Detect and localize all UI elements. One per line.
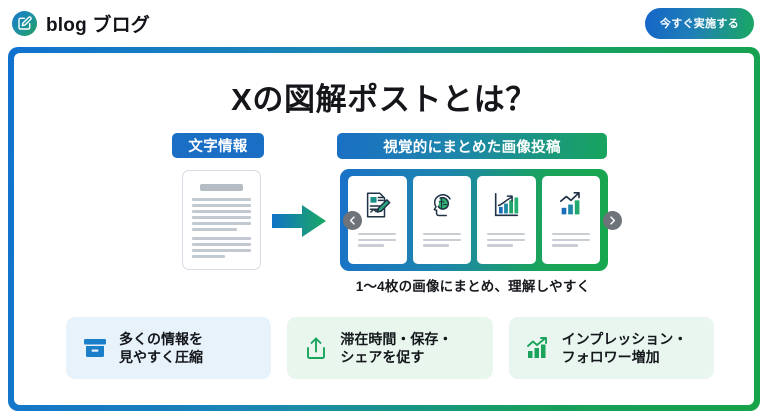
- implement-now-button[interactable]: 今すぐ実施する: [645, 8, 754, 39]
- benefit-line-1: 多くの情報を: [119, 331, 203, 347]
- top-bar: blog ブログ 今すぐ実施する: [0, 0, 768, 46]
- document-pencil-icon: [362, 185, 392, 225]
- benefit-line-1: 滞在時間・保存・: [340, 331, 452, 347]
- label-text-info: 文字情報: [172, 133, 264, 158]
- benefit-card-list: 多くの情報を 見やすく圧縮 滞在時間・保存・ シェアを促す: [66, 317, 714, 379]
- carousel-slide[interactable]: [477, 176, 536, 264]
- benefit-line-1: インプレッション・: [562, 331, 688, 347]
- brand[interactable]: blog ブログ: [12, 10, 150, 37]
- slide-line: [487, 239, 525, 241]
- carousel-caption: 1〜4枚の画像にまとめ、理解しやすく: [337, 275, 609, 295]
- slide-text-lines: [358, 233, 396, 250]
- benefit-label: インプレッション・ フォロワー増加: [562, 330, 688, 367]
- slide-line: [423, 233, 461, 235]
- doc-line: [192, 216, 251, 219]
- share-upload-icon: [301, 335, 331, 361]
- slide-line: [552, 239, 590, 241]
- doc-line: [192, 228, 237, 231]
- benefit-line-2: 見やすく圧縮: [119, 348, 203, 366]
- doc-line: [192, 198, 251, 201]
- brand-name: blog ブログ: [46, 10, 150, 37]
- right-arrow-icon: [272, 204, 326, 238]
- benefit-card-share[interactable]: 滞在時間・保存・ シェアを促す: [287, 317, 492, 379]
- slide-line: [423, 244, 449, 246]
- slide-line: [358, 239, 396, 241]
- archive-box-icon: [80, 335, 110, 361]
- doc-line: [192, 204, 251, 207]
- doc-line: [192, 210, 251, 213]
- slide-line: [358, 244, 384, 246]
- page-title: Xの図解ポストとは？: [14, 74, 754, 119]
- brain-head-icon: [427, 185, 457, 225]
- gradient-frame: Xの図解ポストとは？ 文字情報 視覚的にまとめた画像投稿: [8, 47, 760, 411]
- carousel-next-button[interactable]: [603, 211, 622, 230]
- frame-inner: Xの図解ポストとは？ 文字情報 視覚的にまとめた画像投稿: [14, 53, 754, 405]
- slide-text-lines: [552, 233, 590, 250]
- slide-line: [423, 239, 461, 241]
- doc-title-bar: [200, 184, 244, 191]
- doc-line: [192, 249, 251, 252]
- slide-line: [487, 233, 525, 235]
- growth-chart-icon: [523, 335, 553, 361]
- benefit-label: 滞在時間・保存・ シェアを促す: [340, 330, 452, 367]
- carousel-prev-button[interactable]: [343, 211, 362, 230]
- trend-chart-icon: [556, 185, 586, 225]
- slide-line: [552, 233, 590, 235]
- doc-line: [192, 255, 225, 258]
- image-carousel[interactable]: [340, 169, 608, 271]
- slide-line: [552, 244, 578, 246]
- benefit-card-impressions[interactable]: インプレッション・ フォロワー増加: [509, 317, 714, 379]
- benefit-label: 多くの情報を 見やすく圧縮: [119, 330, 203, 367]
- cta-container: 今すぐ実施する: [645, 8, 754, 39]
- bar-chart-arrow-icon: [491, 185, 521, 225]
- slide-text-lines: [487, 233, 525, 250]
- slide-line: [487, 244, 513, 246]
- carousel-slide[interactable]: [413, 176, 472, 264]
- benefit-line-2: シェアを促す: [340, 348, 452, 366]
- slide-canvas: blog ブログ 今すぐ実施する Xの図解ポストとは？ 文字情報 視覚的にまとめ…: [0, 0, 768, 419]
- text-document-illustration: [182, 170, 261, 270]
- slide-text-lines: [423, 233, 461, 250]
- edit-square-icon: [12, 11, 37, 36]
- benefit-card-compress[interactable]: 多くの情報を 見やすく圧縮: [66, 317, 271, 379]
- label-visual-post: 視覚的にまとめた画像投稿: [337, 133, 607, 159]
- benefit-line-2: フォロワー増加: [562, 348, 688, 366]
- doc-line: [192, 222, 251, 225]
- carousel-slide[interactable]: [542, 176, 601, 264]
- doc-line: [192, 237, 251, 240]
- slide-line: [358, 233, 396, 235]
- doc-line: [192, 243, 251, 246]
